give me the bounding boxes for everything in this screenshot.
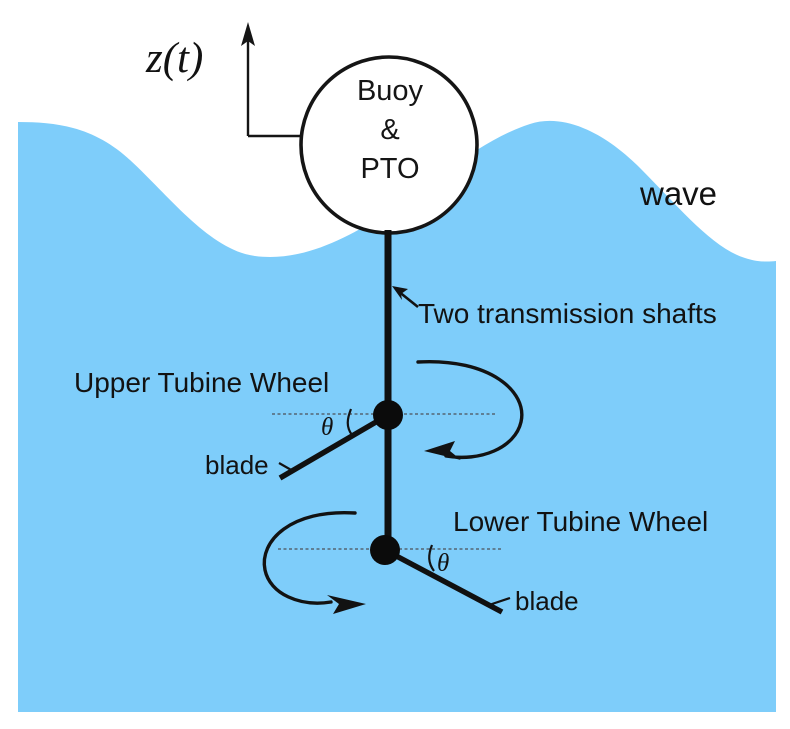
upper-hub (373, 400, 403, 430)
wave-label: wave (640, 177, 717, 210)
lower-hub (370, 535, 400, 565)
upper-turbine-wheel-label: Upper Tubine Wheel (74, 369, 329, 397)
heave-axis (241, 22, 312, 136)
buoy-label-line2: & (310, 111, 470, 150)
upper-blade-label: blade (205, 452, 269, 478)
diagram-canvas: Buoy & PTO z(t) wave Two transmission sh… (0, 0, 790, 729)
buoy-label: Buoy & PTO (310, 72, 470, 189)
buoy-label-line1: Buoy (310, 72, 470, 111)
lower-blade-label: blade (515, 588, 579, 614)
upper-theta-label: θ (321, 415, 333, 440)
buoy-label-line3: PTO (310, 150, 470, 189)
heave-displacement-label: z(t) (146, 37, 203, 80)
lower-turbine-wheel-label: Lower Tubine Wheel (453, 508, 708, 536)
transmission-shafts-label: Two transmission shafts (418, 300, 717, 328)
lower-theta-label: θ (437, 551, 449, 576)
